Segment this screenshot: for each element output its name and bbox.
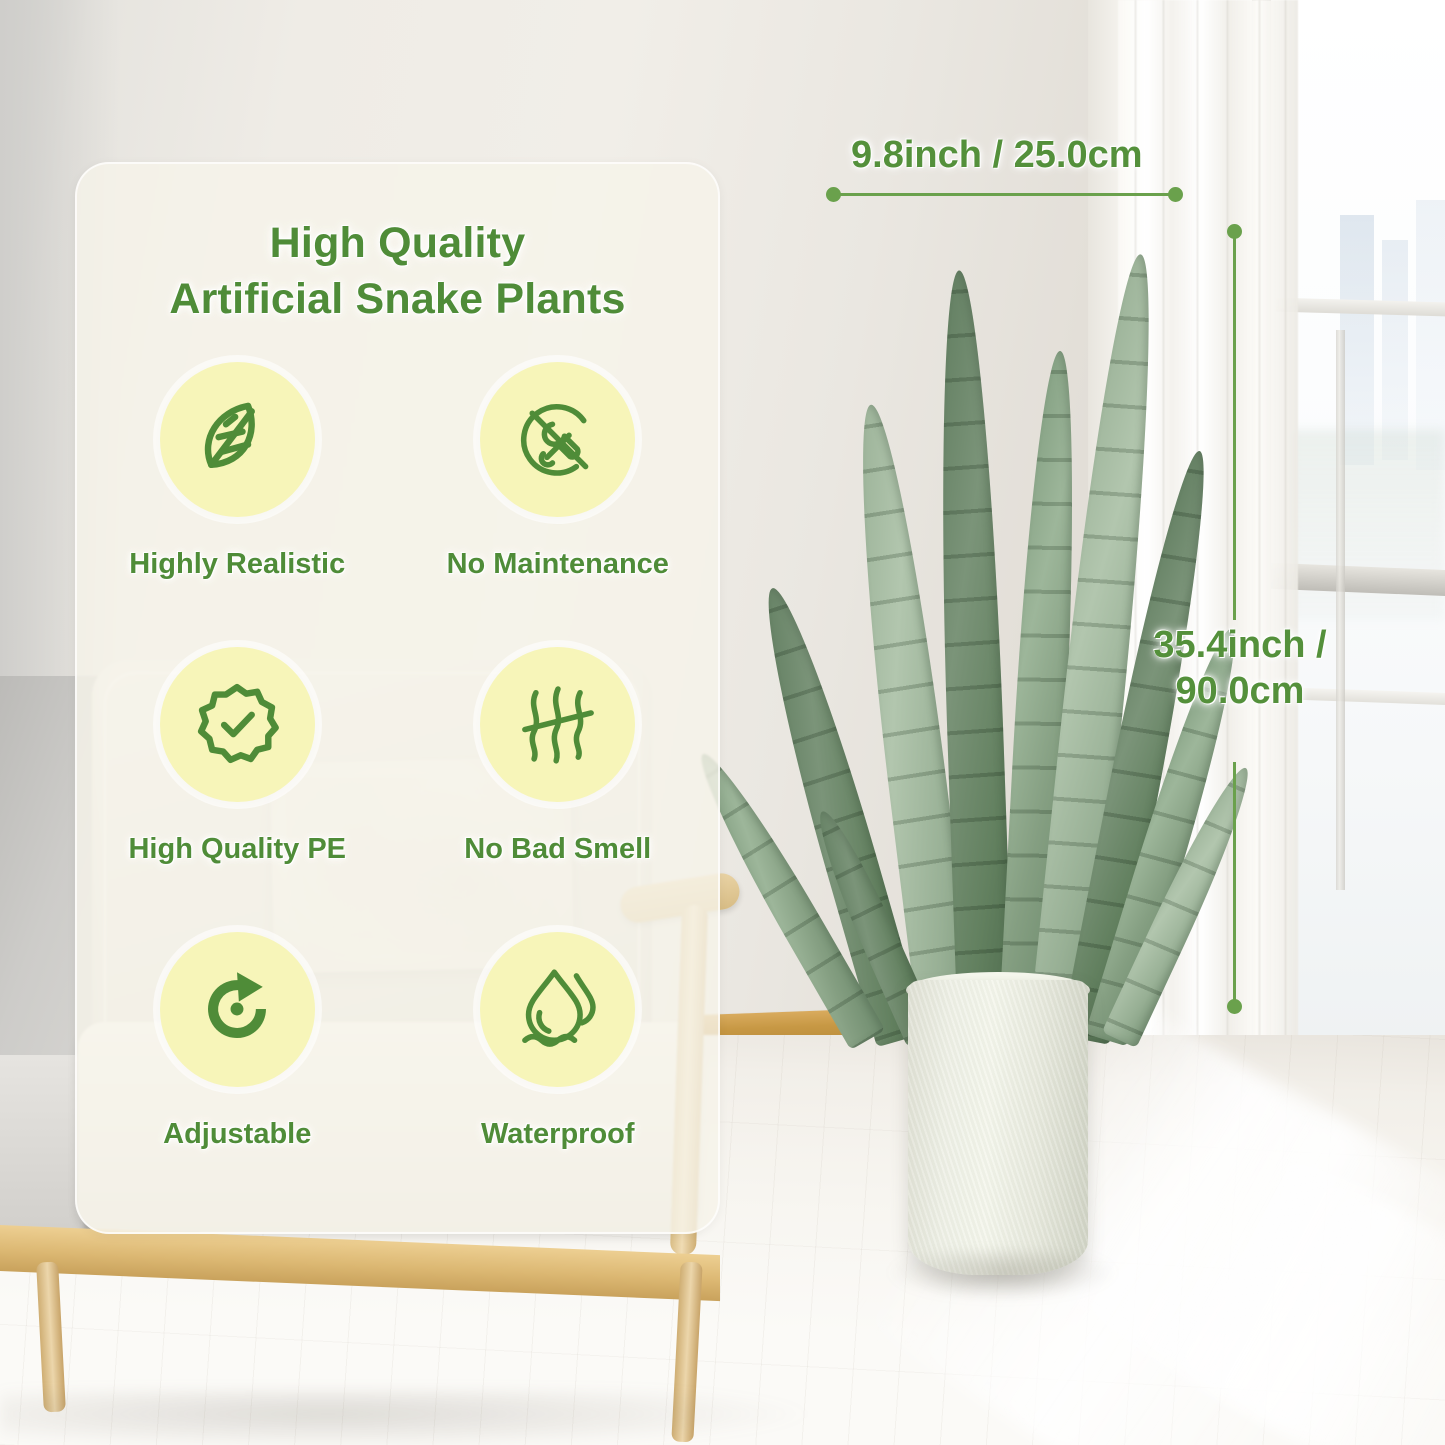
feature-badge: [160, 362, 315, 517]
height-dimension-label: 35.4inch / 90.0cm: [1140, 622, 1340, 715]
feature-badge: [480, 362, 635, 517]
height-endpoint-bottom-dot: [1227, 999, 1242, 1014]
plant-pot: [908, 980, 1088, 1275]
no-bad-smell-icon: [512, 678, 604, 770]
feature-label: High Quality PE: [128, 833, 346, 866]
feature-item-no-maintenance: No Maintenance: [447, 362, 669, 647]
feature-item-highly-realistic: Highly Realistic: [129, 362, 345, 647]
panel-title-line2: Artificial Snake Plants: [77, 272, 718, 328]
feature-badge: [160, 647, 315, 802]
page-title: High Quality Artificial Snake Plants: [77, 216, 718, 328]
width-dimension-line: [833, 193, 1169, 196]
panel-title-line1: High Quality: [77, 216, 718, 272]
product-infographic: High Quality Artificial Snake Plants Hig…: [0, 0, 1445, 1445]
height-dimension-line-upper: [1233, 232, 1236, 620]
armchair-shadow: [0, 1390, 820, 1445]
feature-badge: [480, 932, 635, 1087]
feature-item-adjustable: Adjustable: [160, 932, 315, 1217]
feature-grid: Highly Realistic No Maintenance: [77, 362, 718, 1217]
feature-label: Highly Realistic: [129, 548, 345, 581]
feature-label: No Maintenance: [447, 548, 669, 581]
quality-badge-check-icon: [191, 678, 283, 770]
window-mullion: [1336, 330, 1345, 890]
height-dimension-line-lower: [1233, 762, 1236, 1004]
width-endpoint-right-dot: [1168, 187, 1183, 202]
feature-item-no-bad-smell: No Bad Smell: [464, 647, 651, 932]
building-silhouette: [1340, 215, 1374, 465]
height-endpoint-top-dot: [1227, 224, 1242, 239]
feature-panel: High Quality Artificial Snake Plants Hig…: [75, 162, 720, 1234]
building-silhouette: [1382, 240, 1408, 460]
pot-texture: [908, 980, 1088, 1275]
height-label-line1: 35.4inch /: [1140, 622, 1340, 668]
snake-plant: [846, 210, 1176, 1040]
rotate-arrow-icon: [191, 963, 283, 1055]
width-endpoint-left-dot: [826, 187, 841, 202]
feature-item-waterproof: Waterproof: [480, 932, 635, 1217]
waterproof-droplet-icon: [512, 963, 604, 1055]
feature-item-high-quality-pe: High Quality PE: [128, 647, 346, 932]
leaf-icon: [191, 393, 283, 485]
feature-label: Adjustable: [163, 1118, 311, 1151]
no-maintenance-icon: [512, 393, 604, 485]
feature-label: No Bad Smell: [464, 833, 651, 866]
width-dimension-label: 9.8inch / 25.0cm: [851, 132, 1143, 178]
pot-shadow: [890, 1250, 1115, 1300]
feature-label: Waterproof: [481, 1118, 635, 1151]
feature-badge: [160, 932, 315, 1087]
height-label-line2: 90.0cm: [1140, 668, 1340, 714]
feature-badge: [480, 647, 635, 802]
